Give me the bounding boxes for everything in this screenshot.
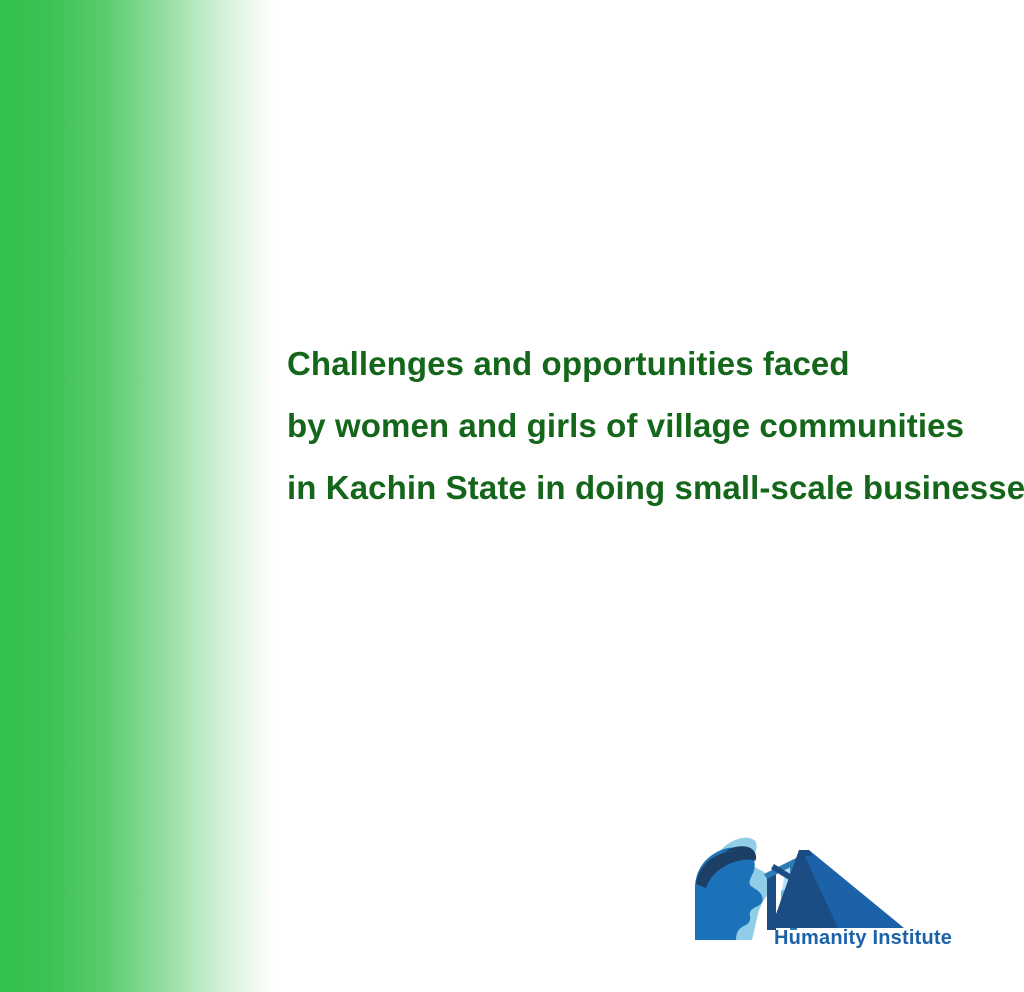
logo-wordmark: Humanity Institute [774, 927, 952, 949]
title-line-3: in Kachin State in doing small-scale bus… [287, 457, 987, 519]
title-line-2: by women and girls of village communitie… [287, 395, 987, 457]
organisation-logo: Humanity Institute [678, 828, 963, 953]
page-title: Challenges and opportunities faced by wo… [287, 333, 987, 519]
house-structure-group [764, 850, 904, 930]
title-line-1: Challenges and opportunities faced [287, 333, 987, 395]
cover-page: Challenges and opportunities faced by wo… [0, 0, 1024, 992]
green-gradient-band [0, 0, 274, 992]
